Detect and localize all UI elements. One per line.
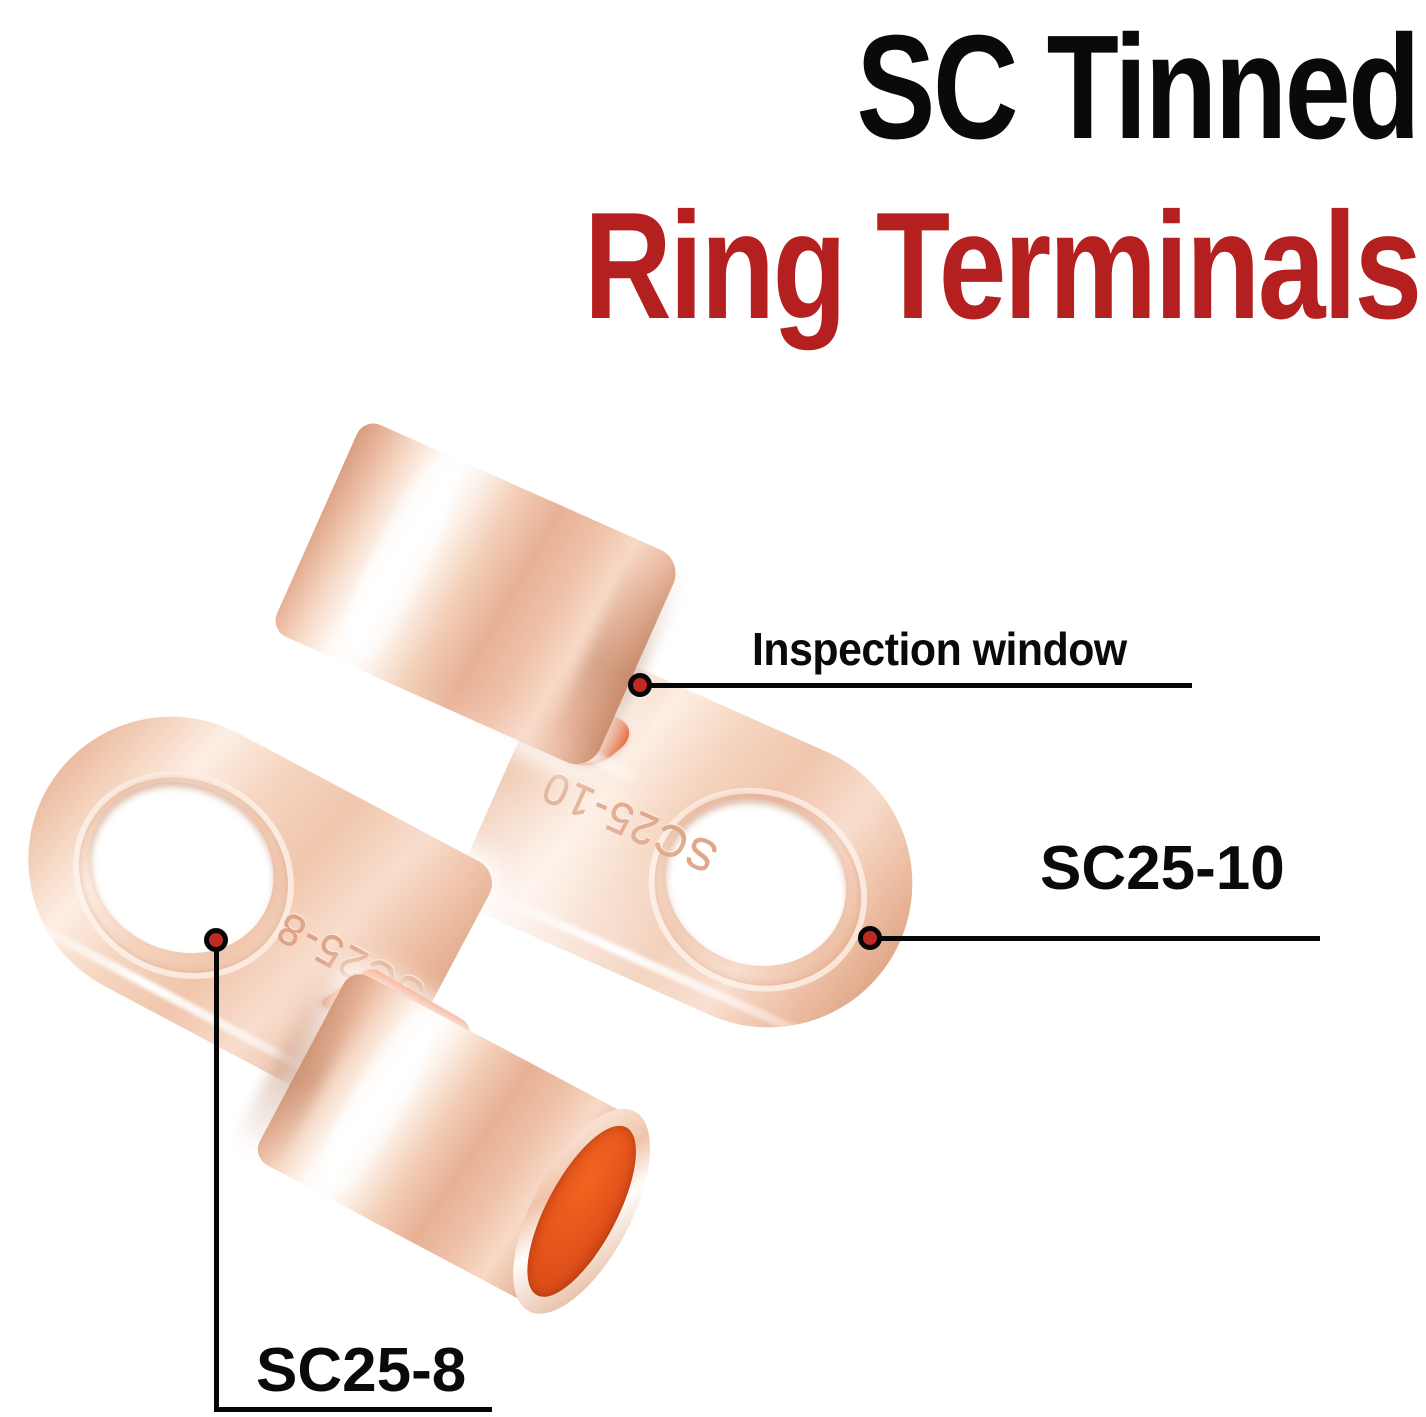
callout-leader-sc25-8-vertical [214, 946, 219, 1412]
barrel-sheen-upper [331, 452, 469, 670]
callout-dot-inspection-window[interactable] [628, 673, 652, 697]
terminal-sc25-8: SC25-8 [10, 720, 730, 1280]
heading-block: SC Tinned Ring Terminals [0, 0, 1426, 370]
callout-label-inspection-window: Inspection window [752, 626, 1127, 672]
callout-dot-sc25-8[interactable] [204, 928, 228, 952]
callout-leader-sc25-8-horizontal [214, 1407, 492, 1412]
page-title-line-2: Ring Terminals [584, 190, 1420, 342]
callout-label-sc25-10: SC25-10 [1040, 838, 1285, 900]
callout-leader-inspection-window [644, 683, 1192, 688]
callout-leader-sc25-10 [876, 936, 1320, 941]
callout-label-sc25-8: SC25-8 [256, 1340, 466, 1402]
callout-dot-sc25-10[interactable] [858, 926, 882, 950]
page-title-line-1: SC Tinned [856, 14, 1418, 162]
